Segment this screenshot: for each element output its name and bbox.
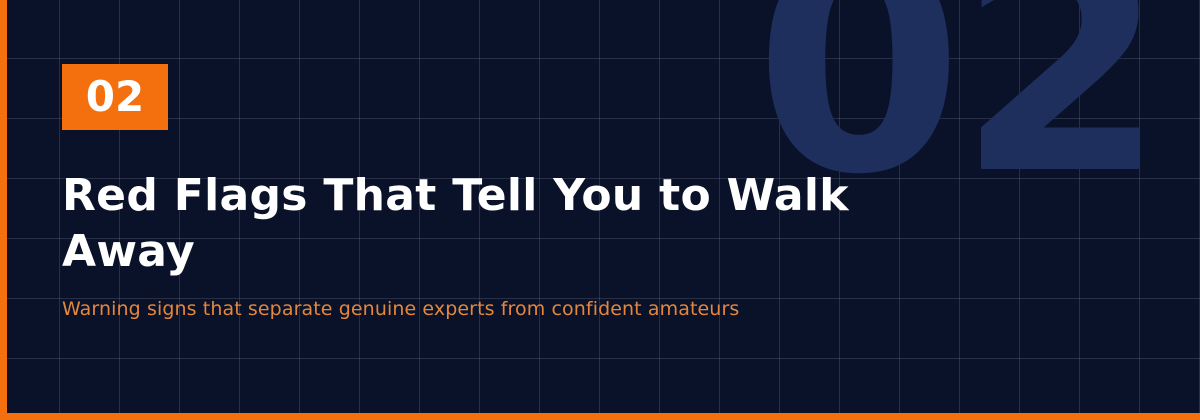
page-title: Red Flags That Tell You to Walk Away [62, 168, 882, 281]
page-subtitle: Warning signs that separate genuine expe… [62, 297, 1012, 322]
slide-content: 02 Red Flags That Tell You to Walk Away … [62, 0, 1152, 420]
section-number-badge-label: 02 [86, 76, 144, 118]
accent-bar-left [0, 0, 7, 420]
section-number-badge: 02 [62, 64, 168, 130]
slide-canvas: 02 02 Red Flags That Tell You to Walk Aw… [0, 0, 1200, 420]
